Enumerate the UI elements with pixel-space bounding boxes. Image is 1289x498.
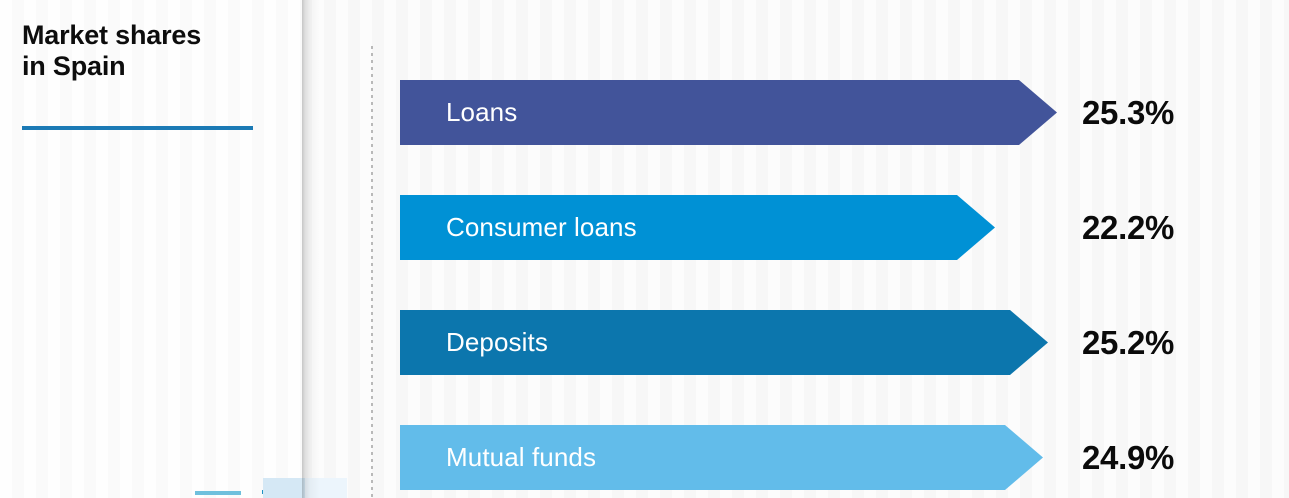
slide-canvas: Market shares in Spain Loans25.3%Consume… [0,0,1289,498]
bar-value-label: 22.2% [1082,195,1174,260]
bar-value-label: 25.2% [1082,310,1174,375]
bar-value-label: 25.3% [1082,80,1174,145]
bar-row: Mutual funds [400,425,1043,490]
bar-chart: Loans25.3%Consumer loans22.2%Deposits25.… [0,0,1289,498]
bar-row: Consumer loans [400,195,995,260]
bar-arrow-shape [400,310,1048,375]
bar-arrow-shape [400,195,995,260]
bar-row: Deposits [400,310,1048,375]
bar-row: Loans [400,80,1057,145]
bar-arrow-shape [400,425,1043,490]
bar-arrow-shape [400,80,1057,145]
bar-value-label: 24.9% [1082,425,1174,490]
